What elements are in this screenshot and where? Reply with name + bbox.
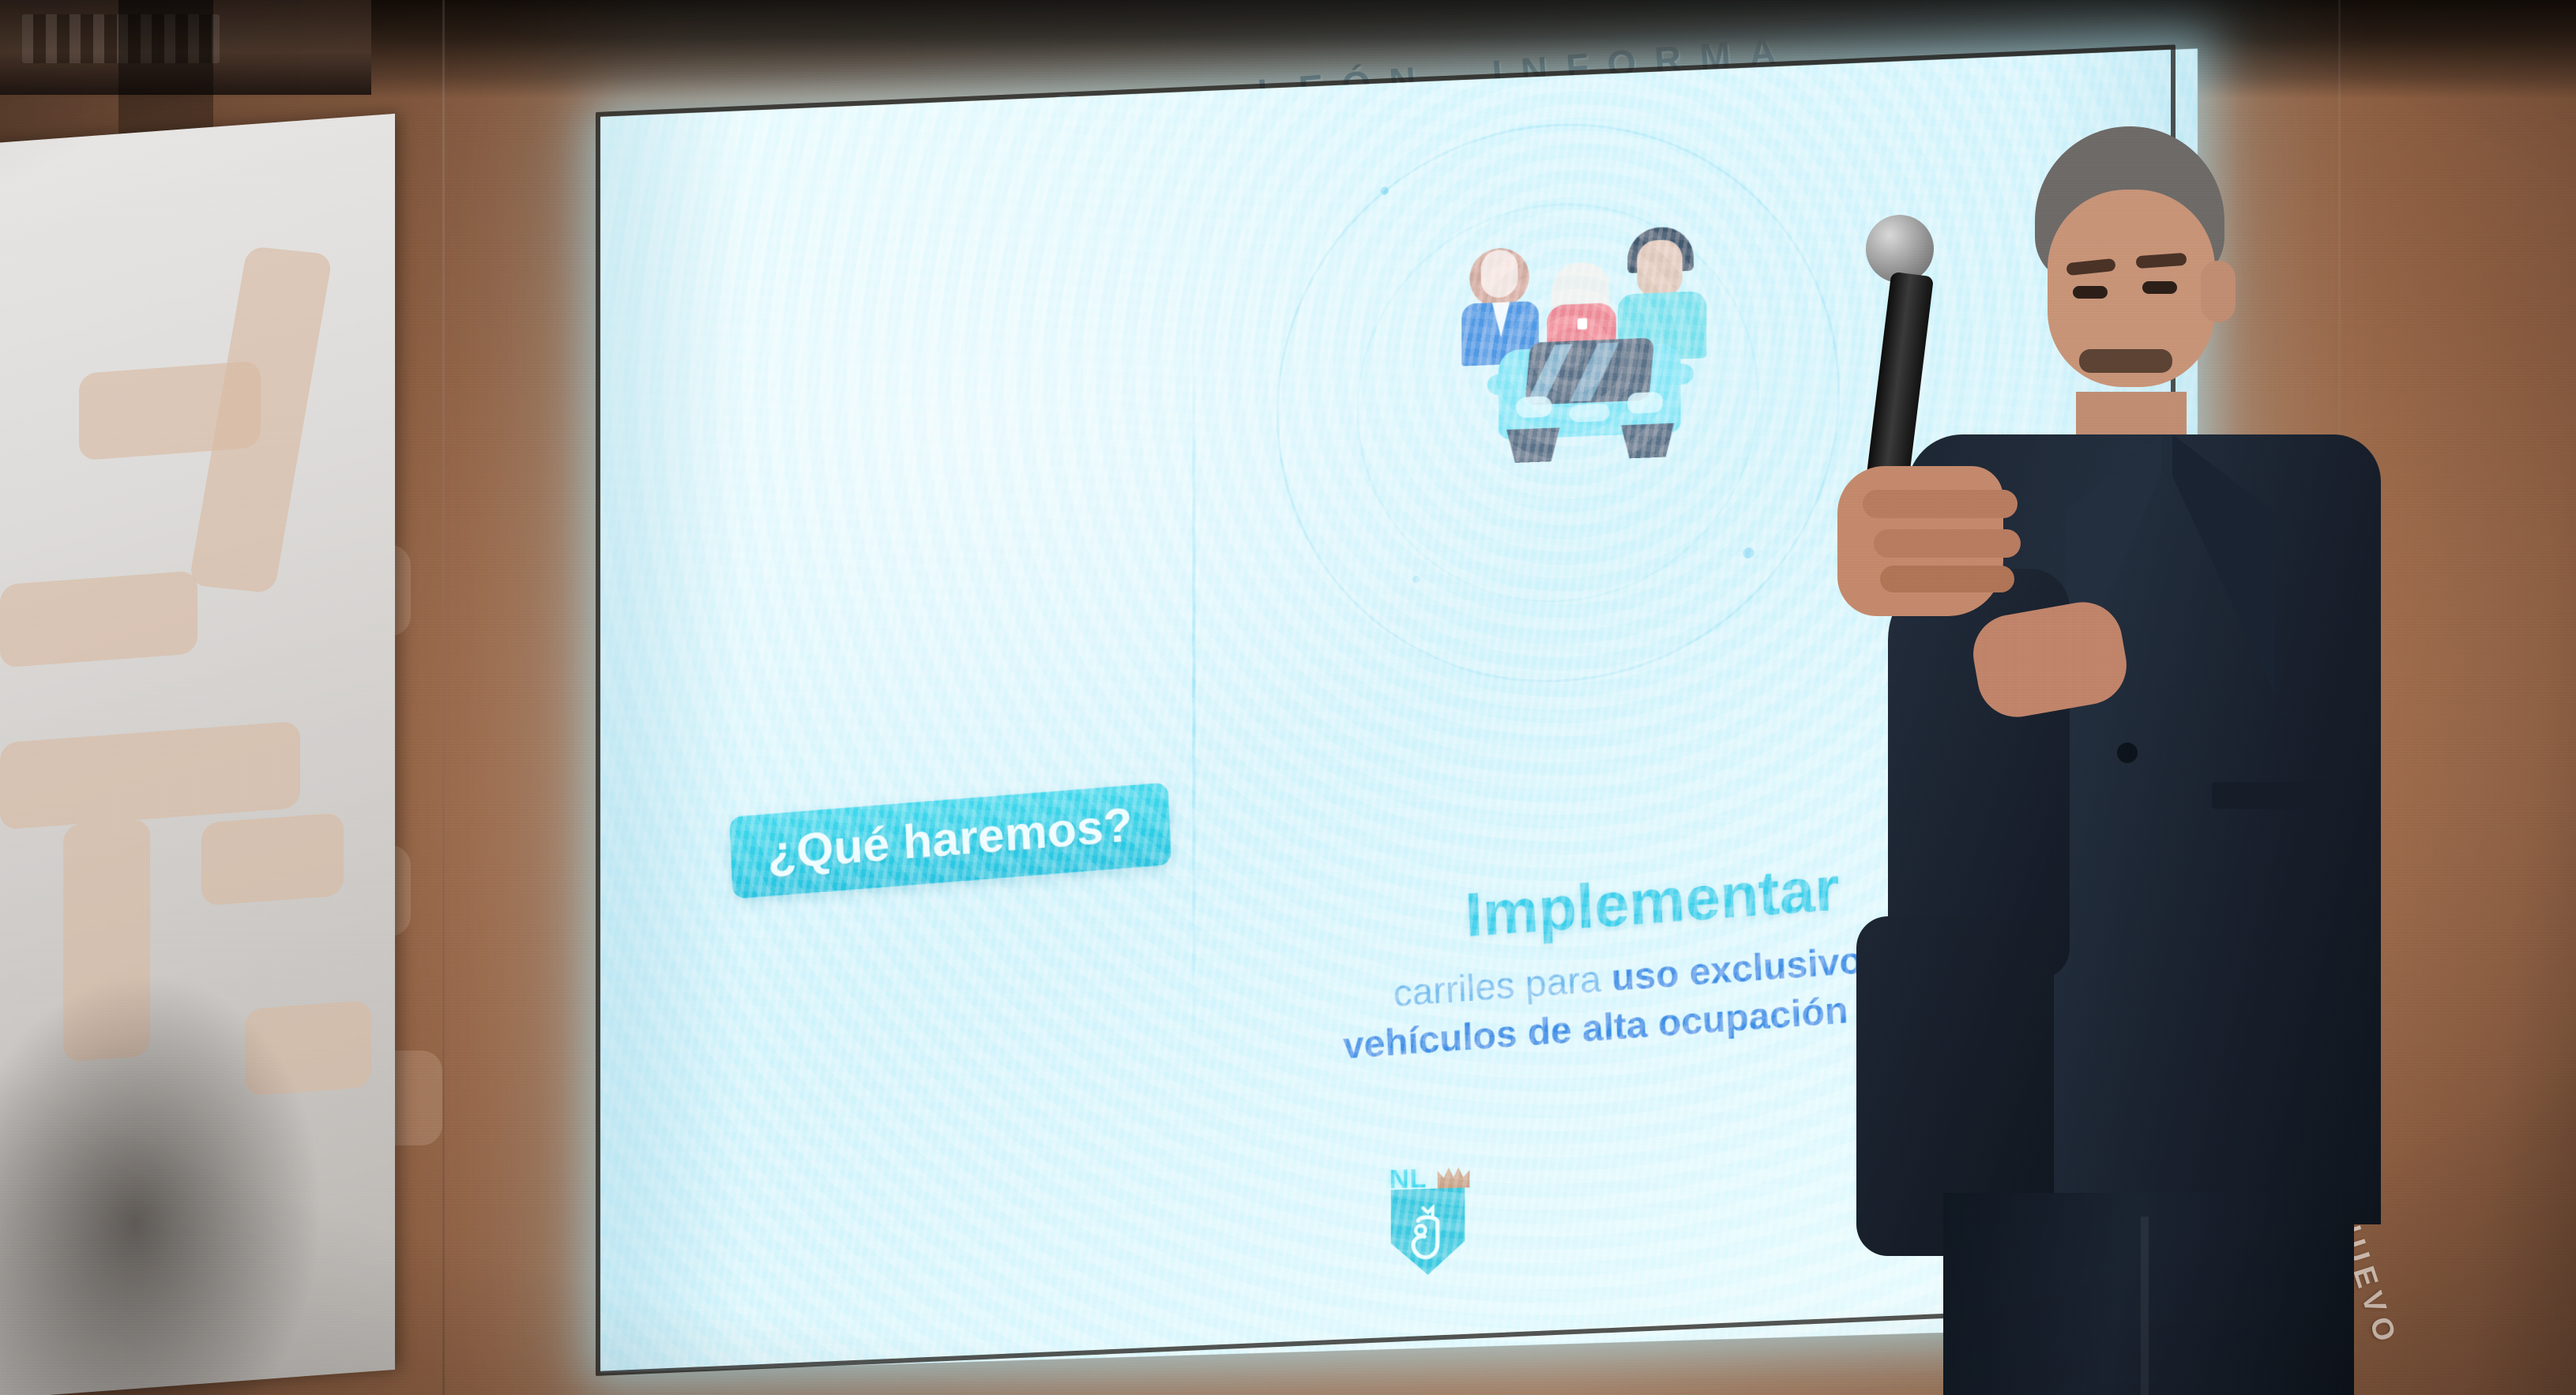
crown-icon — [1438, 1167, 1470, 1189]
body-lead: carriles para — [1393, 957, 1612, 1014]
car-headlight-left — [1516, 396, 1551, 418]
slide-divider — [1192, 282, 1195, 1092]
speaker-jacket-pocket — [2212, 782, 2330, 809]
car-grille — [1570, 404, 1610, 423]
speaker — [1880, 237, 2433, 1395]
passenger-left-face — [1481, 249, 1518, 298]
speaker-eye-left — [2073, 286, 2108, 299]
carpool-car-illustration — [1457, 193, 1723, 467]
passenger-middle-head — [1551, 261, 1609, 309]
car-wheel-right — [1621, 423, 1674, 459]
shield-emblem-icon — [1407, 1204, 1449, 1262]
speaker-trousers — [1943, 1193, 2354, 1395]
question-badge[interactable]: ¿Qué haremos? — [729, 782, 1171, 899]
car-wheel-left — [1506, 427, 1559, 463]
speaker-finger — [1880, 566, 2014, 592]
question-badge-label: ¿Qué haremos? — [766, 801, 1134, 878]
trouser-crease — [2141, 1216, 2149, 1395]
passenger-middle-detail — [1578, 318, 1587, 330]
speaker-ear — [2201, 261, 2236, 322]
speaker-jacket-button — [2117, 743, 2138, 763]
car-headlight-right — [1627, 392, 1663, 414]
car-mirror-right — [1671, 363, 1694, 385]
speaker-mustache — [2079, 349, 2172, 373]
nuevo-leon-logo: NL — [1385, 1164, 1473, 1278]
photo-scene: EL NUEVO LEÓN INFORMA NUEVO — [0, 0, 2576, 1395]
panel-cast-shadow — [0, 902, 363, 1395]
speaker-finger — [1874, 529, 2021, 558]
speaker-finger — [1863, 490, 2018, 518]
speaker-eye-right — [2142, 281, 2177, 294]
passenger-right-face — [1637, 239, 1682, 299]
